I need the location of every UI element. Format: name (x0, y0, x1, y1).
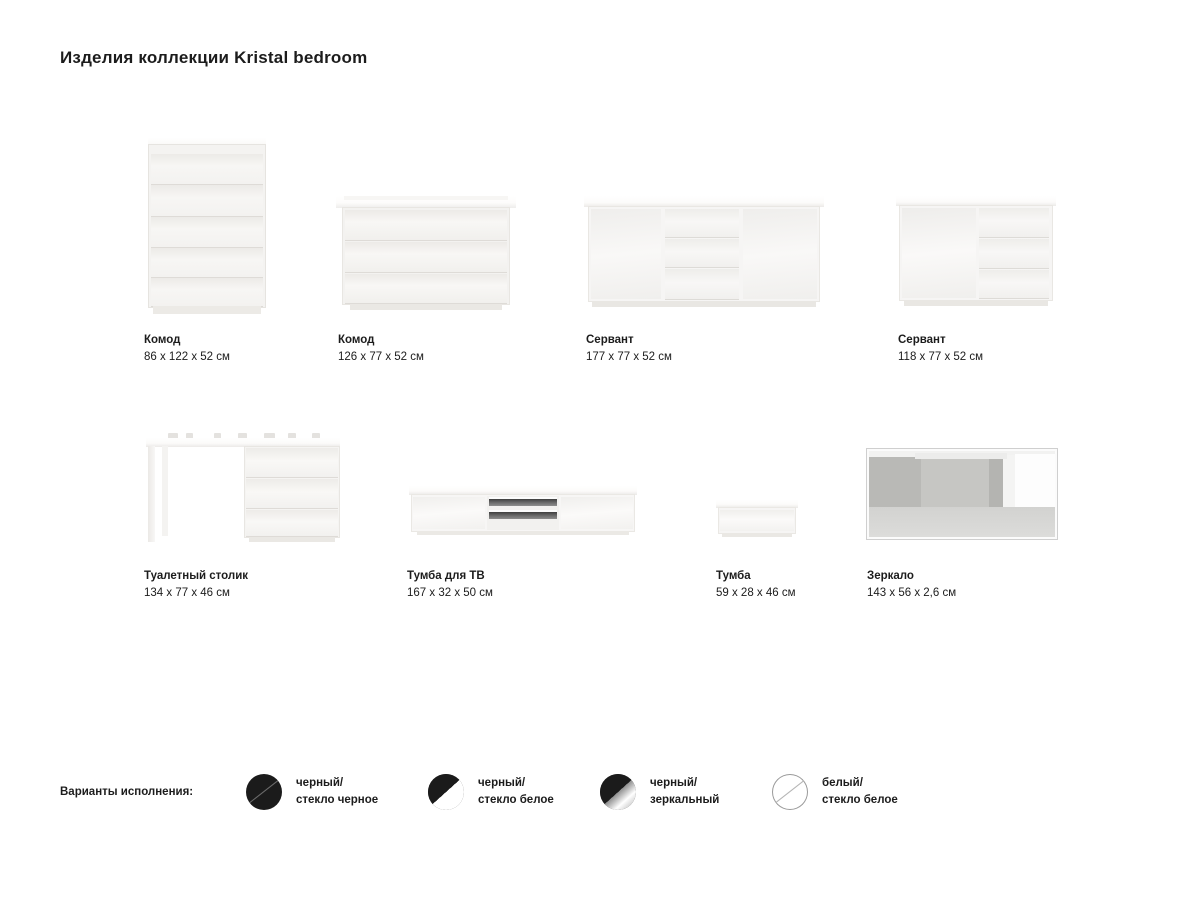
product-name: Сервант (898, 332, 983, 349)
caption-mirror: Зеркало 143 x 56 x 2,6 см (867, 568, 956, 602)
swatch-black-black-glass-icon (246, 774, 282, 810)
product-dimensions: 126 x 77 x 52 см (338, 349, 424, 366)
chest-drawer-3 (151, 217, 263, 247)
chest-drawer-4 (151, 248, 263, 277)
mirror-reflection-highlight (1015, 454, 1055, 514)
sideboard-small-door (902, 208, 976, 298)
legend-option-black-black-glass[interactable]: черный/ стекло черное (246, 774, 378, 810)
legend-line-1: черный/ (478, 775, 554, 792)
legend-option-text: черный/ стекло белое (478, 775, 554, 809)
dresser-drawer-2 (345, 242, 507, 272)
vanity-drawer-2 (246, 479, 338, 508)
product-chest-tall[interactable] (148, 138, 266, 316)
tv-unit-open-shelf-2 (489, 512, 557, 519)
mirror-reflection-ceiling (915, 453, 1007, 459)
product-dimensions: 59 x 28 x 46 см (716, 585, 796, 602)
legend-line-2: зеркальный (650, 792, 719, 809)
nightstand-drawer (720, 510, 794, 531)
tv-unit-plinth (417, 531, 629, 535)
product-name: Тумба (716, 568, 796, 585)
dresser-plinth (350, 304, 502, 310)
sideboard-door-left (591, 209, 661, 299)
vanity-leg-inner (162, 446, 168, 536)
tv-unit-door-left (413, 497, 485, 529)
sideboard-small-drawer-1 (979, 208, 1049, 237)
product-dimensions: 143 x 56 x 2,6 см (867, 585, 956, 602)
caption-nightstand: Тумба 59 x 28 x 46 см (716, 568, 796, 602)
sideboard-plinth (592, 301, 816, 307)
product-sideboard-large[interactable] (584, 196, 824, 314)
legend-option-black-mirror[interactable]: черный/ зеркальный (600, 774, 719, 810)
chest-plinth (153, 306, 261, 314)
sideboard-small-drawer-3 (979, 270, 1049, 298)
product-sideboard-small[interactable] (896, 196, 1056, 312)
caption-dresser: Комод 126 x 77 x 52 см (338, 332, 424, 366)
catalog-page: Изделия коллекции Kristal bedroom Комод … (0, 0, 1200, 900)
product-dimensions: 118 x 77 x 52 см (898, 349, 983, 366)
product-name: Зеркало (867, 568, 956, 585)
product-dimensions: 134 x 77 x 46 см (144, 585, 248, 602)
product-nightstand[interactable] (716, 500, 798, 540)
sideboard-door-right (743, 209, 817, 299)
vanity-drawer-1 (246, 448, 338, 477)
product-dresser[interactable] (336, 196, 516, 314)
product-mirror[interactable] (866, 448, 1058, 540)
product-name: Туалетный столик (144, 568, 248, 585)
chest-drawer-5 (151, 278, 263, 306)
sideboard-small-plinth (904, 300, 1048, 306)
nightstand-plinth (722, 533, 792, 537)
chest-drawer-1 (151, 154, 263, 184)
dresser-drawer-3 (345, 274, 507, 303)
caption-tv-unit: Тумба для ТВ 167 x 32 x 50 см (407, 568, 493, 602)
swatch-black-mirror-icon (600, 774, 636, 810)
caption-vanity: Туалетный столик 134 x 77 x 46 см (144, 568, 248, 602)
legend-line-2: стекло белое (478, 792, 554, 809)
legend-line-1: черный/ (296, 775, 378, 792)
legend-option-black-white-glass[interactable]: черный/ стекло белое (428, 774, 554, 810)
legend-label: Варианты исполнения: (60, 786, 193, 798)
swatch-half-fill (428, 774, 464, 810)
dresser-drawer-1 (345, 210, 507, 240)
caption-chest-tall: Комод 86 x 122 x 52 см (144, 332, 230, 366)
product-dimensions: 86 x 122 x 52 см (144, 349, 230, 366)
product-tv-unit[interactable] (409, 486, 637, 538)
tv-unit-open-shelf-1 (489, 499, 557, 506)
swatch-black-white-glass-icon (428, 774, 464, 810)
sideboard-drawer-3 (665, 269, 739, 299)
swatch-white-white-glass-icon (772, 774, 808, 810)
product-name: Тумба для ТВ (407, 568, 493, 585)
product-name: Комод (144, 332, 230, 349)
vanity-plinth (249, 537, 335, 542)
vanity-drawer-3 (246, 510, 338, 536)
legend-line-2: стекло белое (822, 792, 898, 809)
mirror-reflection-floor (869, 507, 1055, 537)
legend-option-white-white-glass[interactable]: белый/ стекло белое (772, 774, 898, 810)
product-vanity[interactable] (146, 430, 340, 542)
product-dimensions: 177 x 77 x 52 см (586, 349, 672, 366)
swatch-diagonal-line (246, 775, 282, 808)
legend-option-text: черный/ зеркальный (650, 775, 719, 809)
sideboard-drawer-1 (665, 209, 739, 237)
legend-line-1: белый/ (822, 775, 898, 792)
legend-option-text: черный/ стекло черное (296, 775, 378, 809)
legend-line-2: стекло черное (296, 792, 378, 809)
page-title: Изделия коллекции Kristal bedroom (60, 48, 367, 68)
product-name: Сервант (586, 332, 672, 349)
chest-drawer-2 (151, 185, 263, 216)
sideboard-small-drawer-2 (979, 239, 1049, 268)
caption-sideboard-large: Сервант 177 x 77 x 52 см (586, 332, 672, 366)
mirror-reflection-wall-back (921, 457, 989, 507)
swatch-diagonal-line (772, 775, 808, 808)
mirror-glass (869, 451, 1055, 537)
product-dimensions: 167 x 32 x 50 см (407, 585, 493, 602)
legend-option-text: белый/ стекло белое (822, 775, 898, 809)
caption-sideboard-small: Сервант 118 x 77 x 52 см (898, 332, 983, 366)
tv-unit-door-right (561, 497, 633, 529)
swatch-half-fill (600, 774, 636, 810)
product-name: Комод (338, 332, 424, 349)
legend-line-1: черный/ (650, 775, 719, 792)
sideboard-drawer-2 (665, 239, 739, 267)
vanity-leg-outer (148, 446, 155, 542)
